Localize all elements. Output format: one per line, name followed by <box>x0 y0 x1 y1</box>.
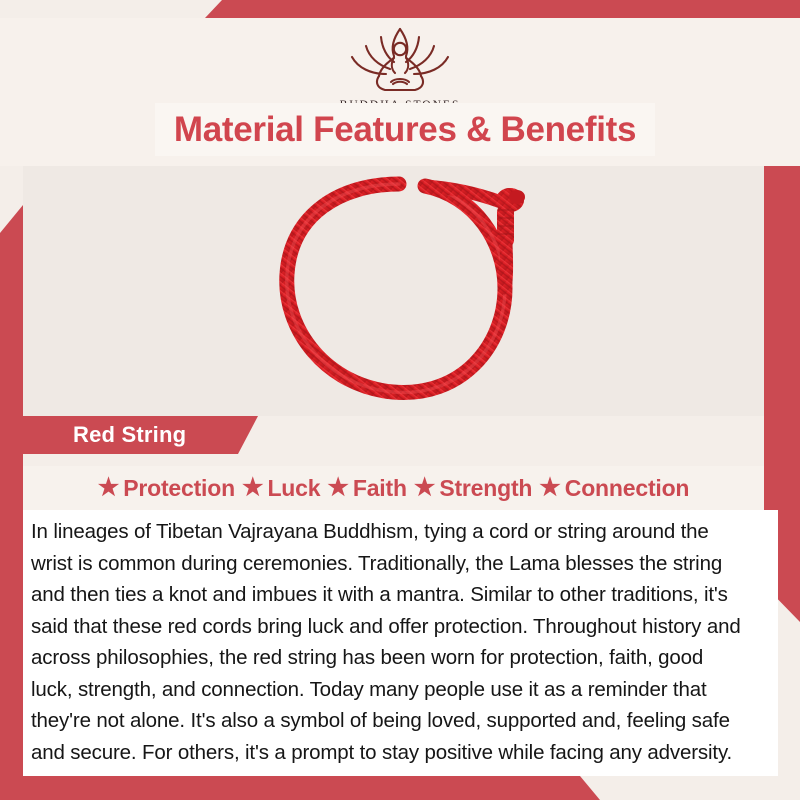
material-ribbon: Red String <box>23 416 258 454</box>
infographic-page: BUDDHA STONES Material Features & Benefi… <box>0 0 800 800</box>
benefits-list: ★ Protection ★ Luck ★ Faith ★ Strength ★… <box>23 466 764 510</box>
star-icon: ★ <box>327 476 349 500</box>
star-icon: ★ <box>414 476 436 500</box>
description-text: In lineages of Tibetan Vajrayana Buddhis… <box>31 516 748 768</box>
benefit-item-luck: ★ Luck <box>242 475 320 502</box>
benefit-item-connection: ★ Connection <box>539 475 689 502</box>
bottom-red-banner-decoration <box>0 776 640 800</box>
benefit-label: Luck <box>267 475 320 502</box>
benefit-label: Connection <box>565 475 690 502</box>
star-icon: ★ <box>539 476 561 500</box>
hero-product-section <box>23 166 764 416</box>
red-string-bracelet-illustration <box>229 170 559 416</box>
benefit-label: Strength <box>439 475 532 502</box>
benefit-item-strength: ★ Strength <box>414 475 532 502</box>
left-red-strip-decoration <box>0 205 23 800</box>
benefit-item-protection: ★ Protection <box>98 475 235 502</box>
ribbon-spacer <box>23 454 764 464</box>
material-name: Red String <box>73 422 186 448</box>
star-icon: ★ <box>242 476 264 500</box>
benefit-label: Protection <box>123 475 235 502</box>
top-red-banner-decoration <box>0 0 800 18</box>
page-title: Material Features & Benefits <box>174 110 636 150</box>
benefit-item-faith: ★ Faith <box>327 475 406 502</box>
benefit-label: Faith <box>353 475 407 502</box>
star-icon: ★ <box>98 476 120 500</box>
lotus-meditation-figure-icon <box>335 24 465 98</box>
title-plaque: Material Features & Benefits <box>155 103 655 156</box>
description-section: In lineages of Tibetan Vajrayana Buddhis… <box>23 510 778 776</box>
brand-logo: BUDDHA STONES <box>325 24 475 111</box>
